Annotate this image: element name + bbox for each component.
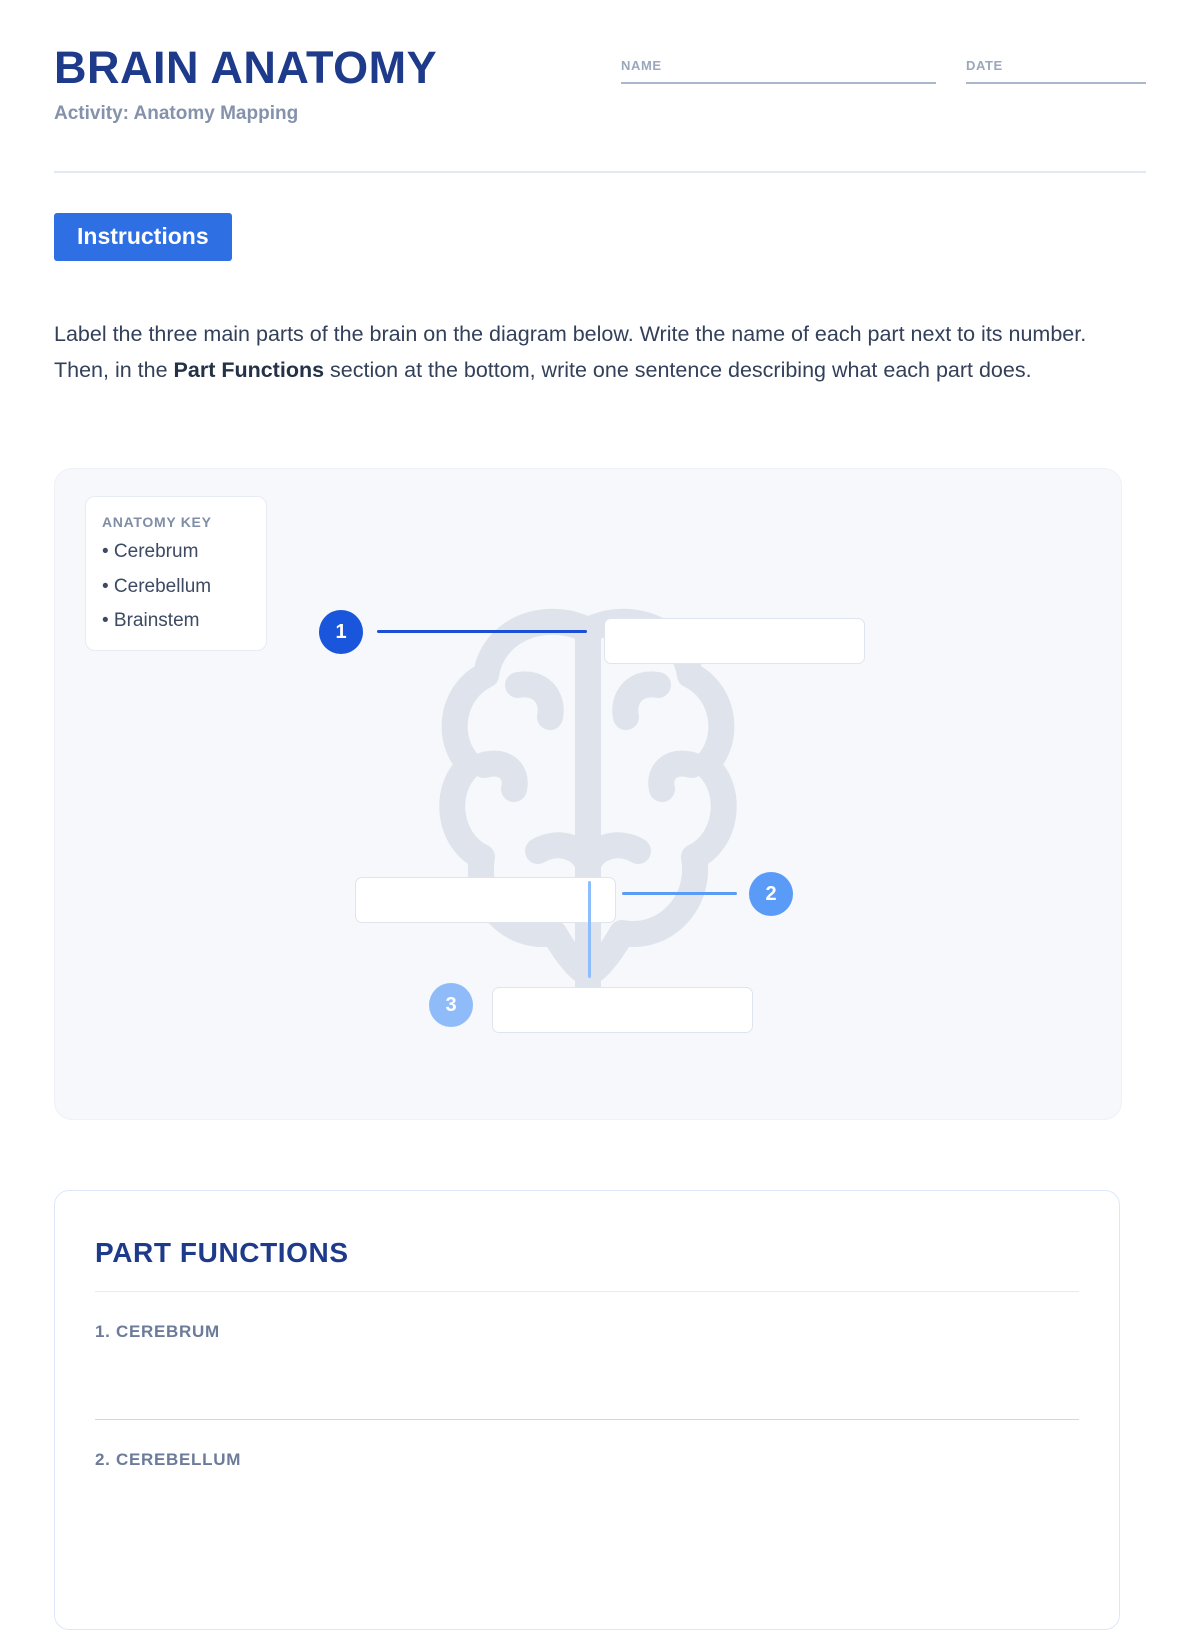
answer-box-1[interactable] xyxy=(604,618,865,664)
header-divider xyxy=(54,171,1146,173)
connector-line-2 xyxy=(622,892,737,895)
title-block: BRAIN ANATOMY Activity: Anatomy Mapping xyxy=(54,44,437,125)
diagram-marker-3[interactable]: 3 xyxy=(429,983,473,1027)
part-functions-card: PART FUNCTIONS 1. CEREBRUM 2. CEREBELLUM xyxy=(54,1190,1120,1630)
diagram-panel: ANATOMY KEY • Cerebrum • Cerebellum • Br… xyxy=(54,468,1122,1120)
worksheet-page: BRAIN ANATOMY Activity: Anatomy Mapping … xyxy=(0,0,1200,1600)
worksheet-header: BRAIN ANATOMY Activity: Anatomy Mapping … xyxy=(54,44,1146,154)
anatomy-key-title: ANATOMY KEY xyxy=(102,514,250,530)
anatomy-key-item: • Cerebellum xyxy=(102,577,250,598)
date-field[interactable]: DATE xyxy=(966,58,1146,84)
instructions-emphasis: Part Functions xyxy=(174,358,325,382)
page-title: BRAIN ANATOMY xyxy=(54,44,437,91)
answer-box-2[interactable] xyxy=(355,877,616,923)
connector-line-3 xyxy=(588,881,591,978)
part-functions-title: PART FUNCTIONS xyxy=(95,1237,1079,1269)
name-input-line[interactable] xyxy=(621,82,936,84)
anatomy-key-item: • Cerebrum xyxy=(102,542,250,563)
answer-box-3[interactable] xyxy=(492,987,753,1033)
diagram-marker-1[interactable]: 1 xyxy=(319,610,363,654)
function-label-2: 2. CEREBELLUM xyxy=(95,1450,1079,1470)
page-subtitle: Activity: Anatomy Mapping xyxy=(54,103,437,125)
instructions-text-tail: section at the bottom, write one sentenc… xyxy=(324,358,1032,382)
instructions-badge: Instructions xyxy=(54,213,232,261)
meta-fields: NAME DATE xyxy=(621,58,1146,84)
anatomy-key: ANATOMY KEY • Cerebrum • Cerebellum • Br… xyxy=(85,496,267,651)
anatomy-key-item: • Brainstem xyxy=(102,611,250,632)
function-label-1: 1. CEREBRUM xyxy=(95,1322,1079,1342)
diagram-marker-2[interactable]: 2 xyxy=(749,872,793,916)
name-field[interactable]: NAME xyxy=(621,58,936,84)
name-label: NAME xyxy=(621,58,936,73)
instructions-text: Label the three main parts of the brain … xyxy=(54,316,1094,390)
connector-line-1 xyxy=(377,630,587,633)
date-input-line[interactable] xyxy=(966,82,1146,84)
function-item: 1. CEREBRUM xyxy=(95,1292,1079,1420)
function-item: 2. CEREBELLUM xyxy=(95,1420,1079,1470)
date-label: DATE xyxy=(966,58,1146,73)
